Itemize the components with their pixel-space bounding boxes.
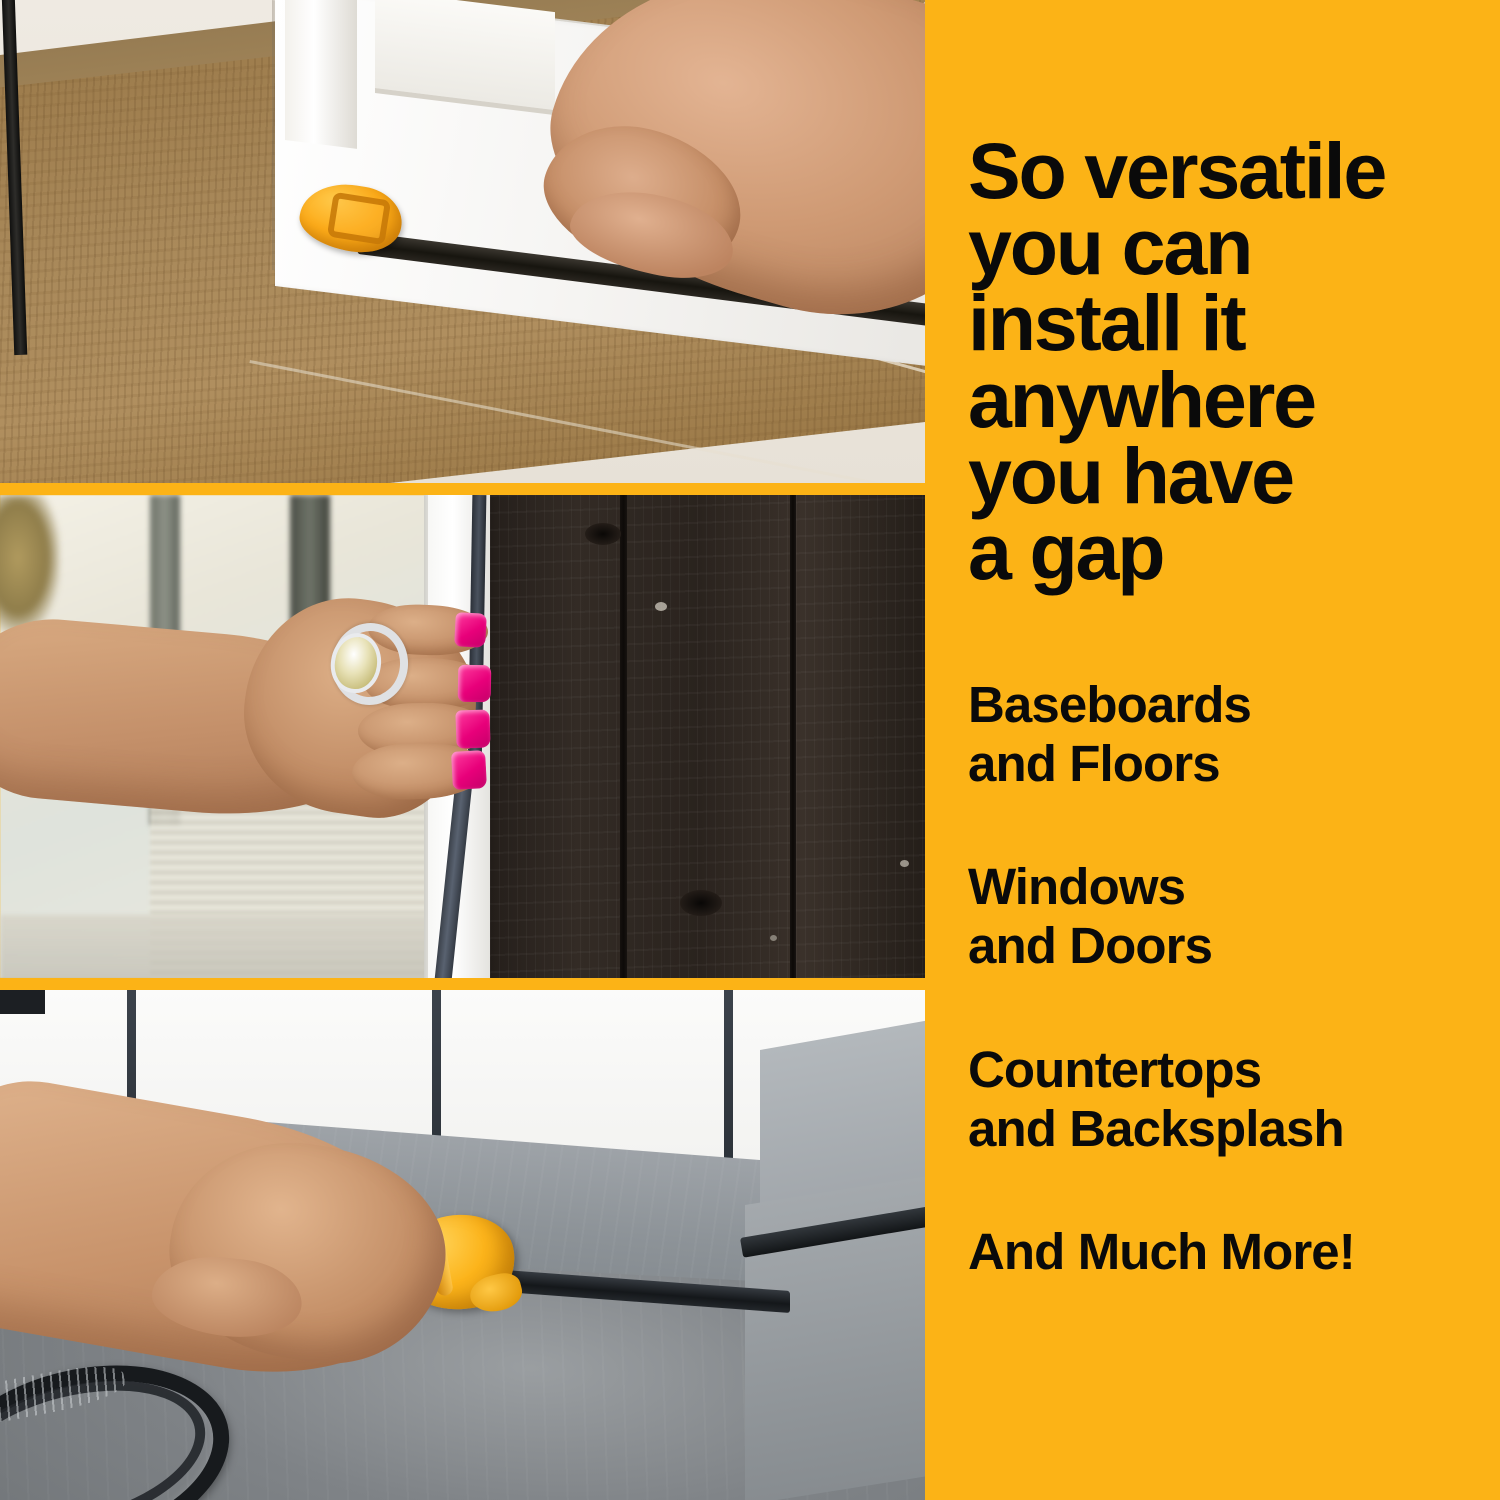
pink-fingernail [454,612,487,648]
paint-speck [900,860,909,867]
window-sill [0,915,440,978]
scene-countertop [0,990,925,1500]
wood-knot [680,890,722,916]
benefit-item-and-much-more: And Much More! [968,1222,1498,1281]
photo-column [0,0,925,1500]
scene-window [0,495,925,978]
benefit-item-windows-and-doors: Windows and Doors [968,857,1498,975]
outdoor-foliage [0,495,60,635]
pink-fingernail [455,709,490,748]
paint-speck [655,602,667,611]
panel-divider [0,978,925,990]
wood-knot [585,523,621,545]
panel-divider [0,483,925,495]
text-column: So versatile you can install it anywhere… [925,0,1500,1500]
photo-window-door-install [0,495,925,978]
wood-plank-seam [620,495,627,978]
photo-countertop-backsplash-install [0,990,925,1500]
wood-plank-seam [790,495,796,978]
photo-baseboard-floor-install [0,0,925,483]
product-feature-card: So versatile you can install it anywhere… [0,0,1500,1500]
dark-tile-accent [0,990,45,1014]
tile-grout-line [724,990,733,1174]
pink-fingernail [458,665,492,703]
headline: So versatile you can install it anywhere… [968,133,1488,590]
paint-speck [770,935,777,941]
pink-fingernail [451,750,487,790]
benefit-item-baseboards-and-floors: Baseboards and Floors [968,675,1498,793]
scene-baseboard [0,0,925,483]
door-jamb [285,0,357,149]
applicator-tool-slot [327,192,391,246]
benefits-list: Baseboards and Floors Windows and Doors … [968,675,1498,1281]
benefit-item-countertops-and-backsplash: Countertops and Backsplash [968,1040,1498,1158]
